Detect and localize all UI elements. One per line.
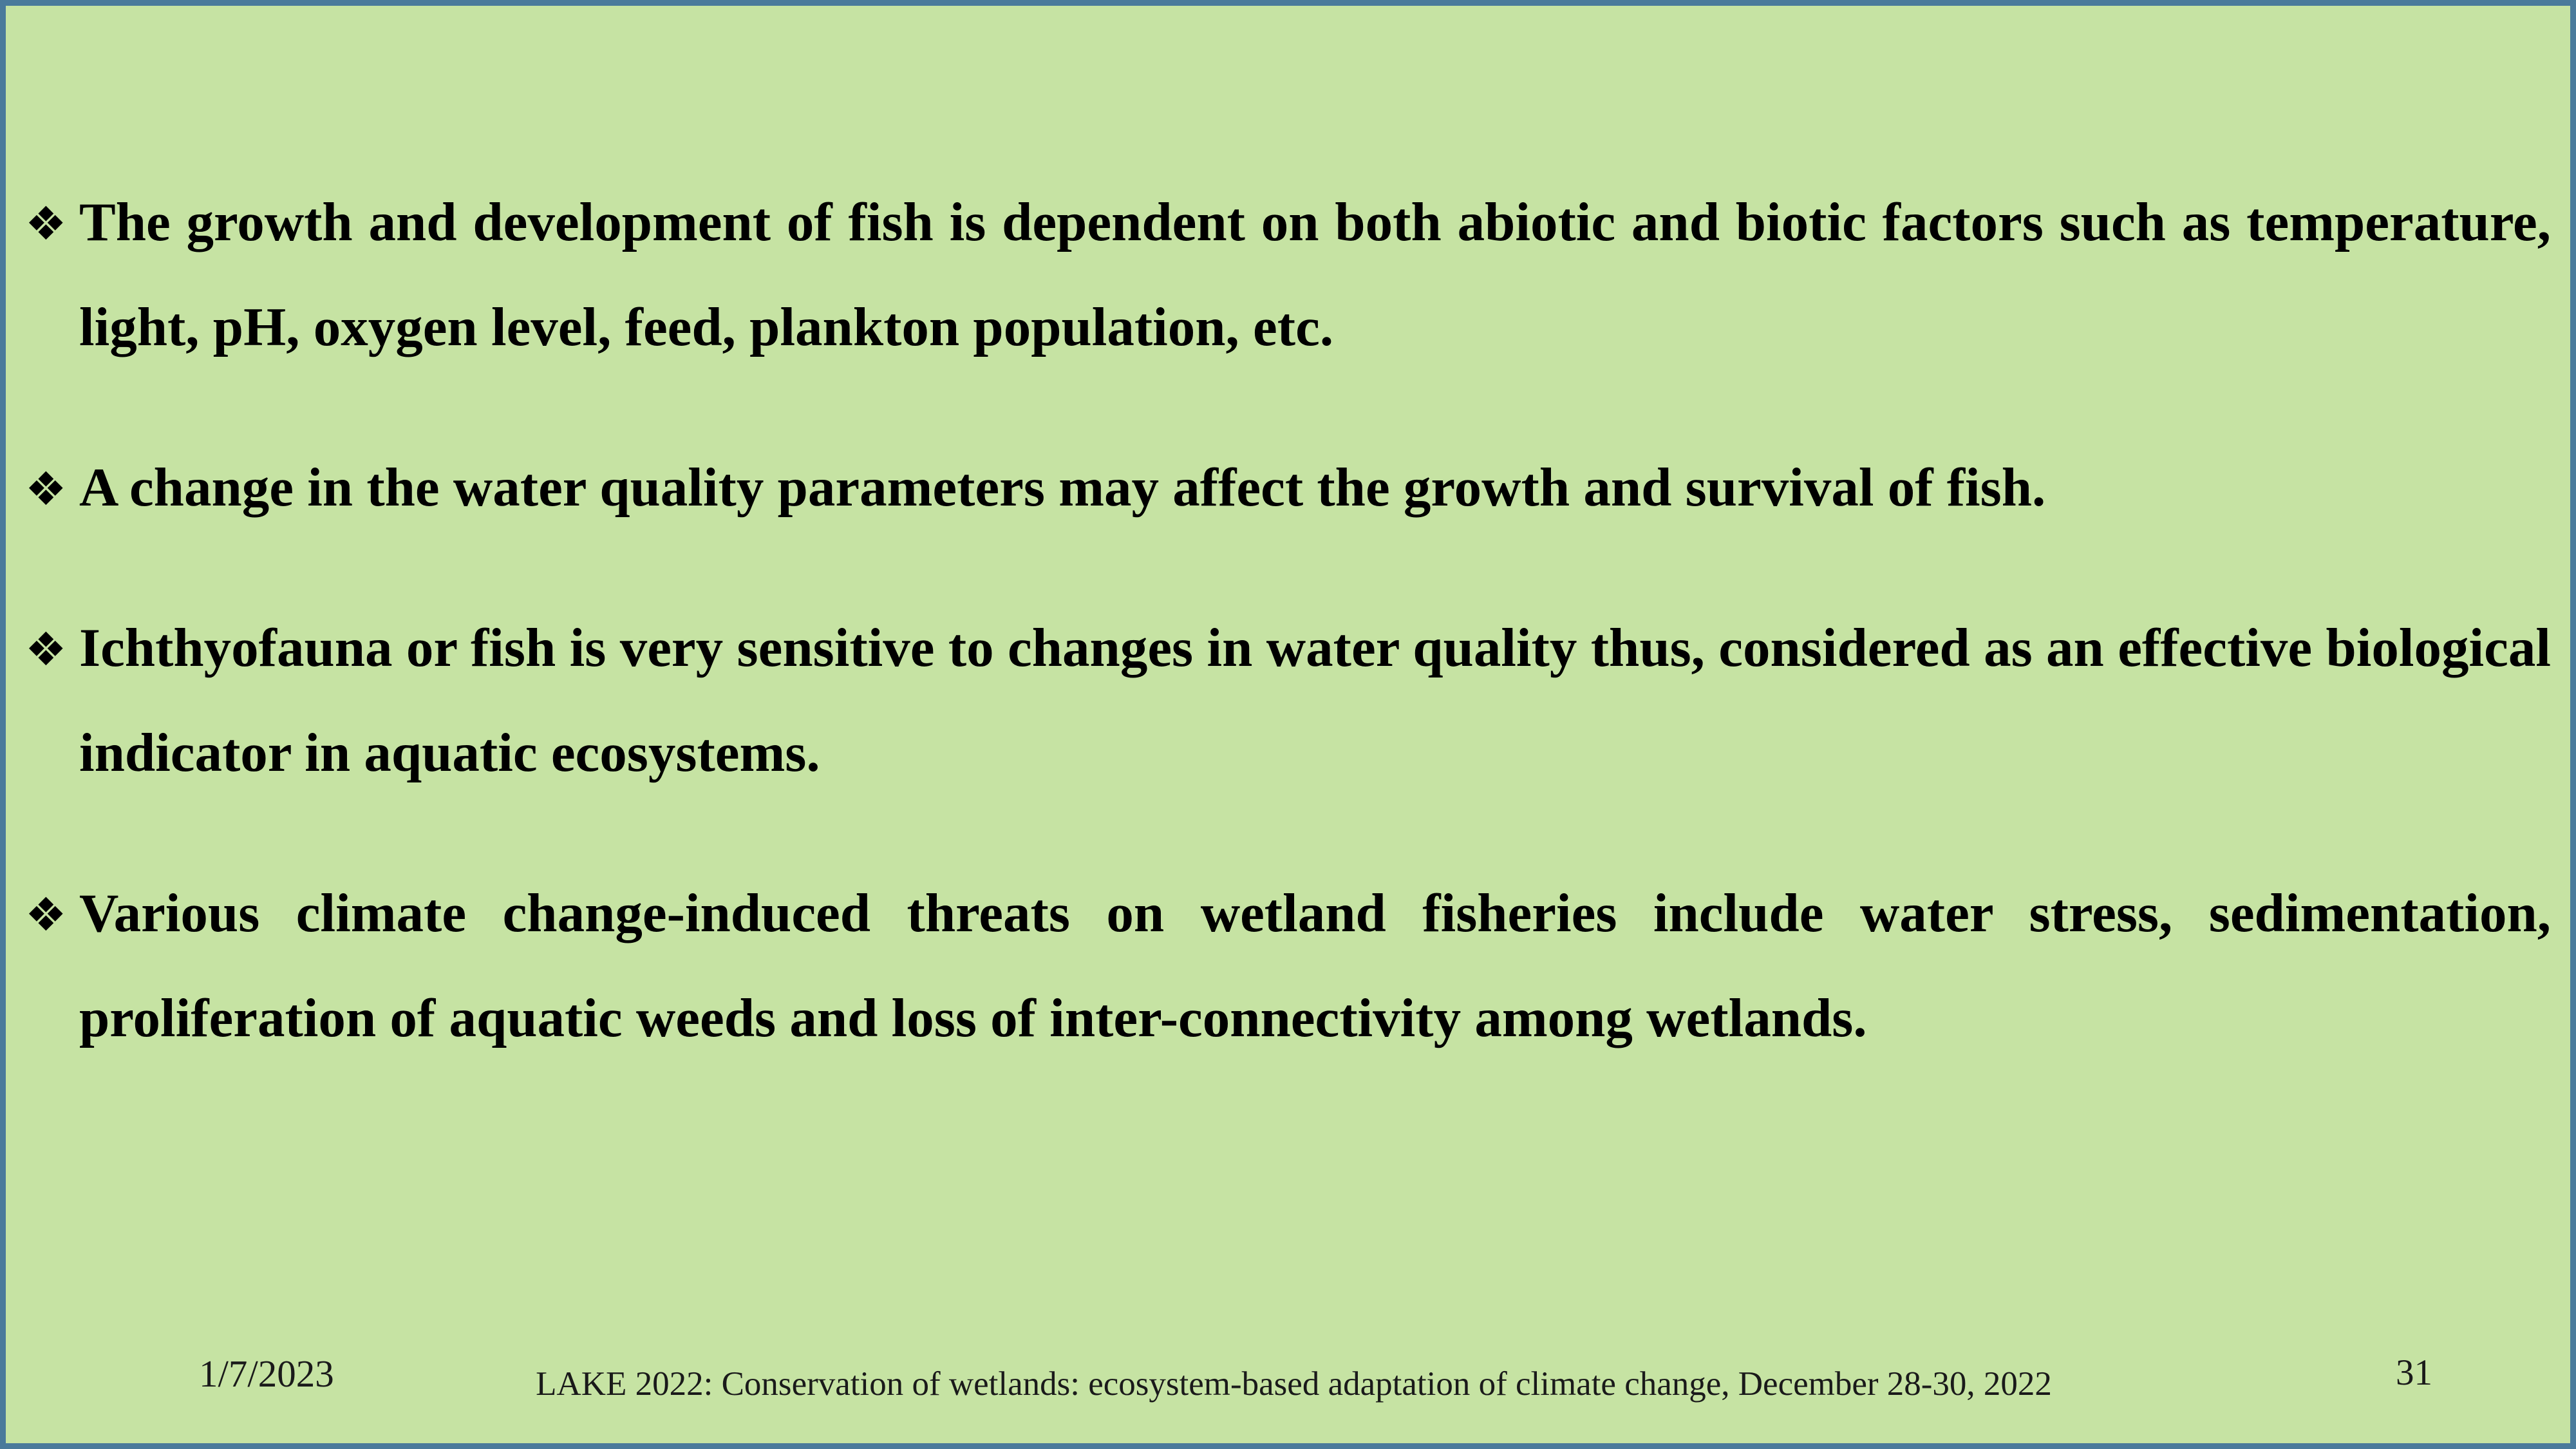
slide-body-content: ❖ The growth and development of fish is …: [6, 170, 2576, 1284]
bullet-item-text: A change in the water quality parameters…: [79, 435, 2551, 540]
slide-footer: 1/7/2023 LAKE 2022: Conservation of wetl…: [6, 1295, 2576, 1443]
bullet-list-item: ❖ Various climate change-induced threats…: [25, 861, 2551, 1071]
footer-conference-text: LAKE 2022: Conservation of wetlands: eco…: [6, 1365, 2576, 1403]
presentation-slide: ❖ The growth and development of fish is …: [0, 0, 2576, 1449]
bullet-list-item: ❖ The growth and development of fish is …: [25, 170, 2551, 380]
bullet-item-text: Ichthyofauna or fish is very sensitive t…: [79, 596, 2551, 806]
diamond-bullet-icon: ❖: [25, 437, 79, 542]
diamond-bullet-icon: ❖: [25, 862, 79, 967]
bullet-item-text: Various climate change-induced threats o…: [79, 861, 2551, 1071]
slide-number: 31: [2396, 1352, 2432, 1394]
bullet-list-item: ❖ A change in the water quality paramete…: [25, 435, 2551, 540]
diamond-bullet-icon: ❖: [25, 171, 79, 276]
bullet-list-item: ❖ Ichthyofauna or fish is very sensitive…: [25, 596, 2551, 806]
bullet-item-text: The growth and development of fish is de…: [79, 170, 2551, 380]
diamond-bullet-icon: ❖: [25, 597, 79, 702]
